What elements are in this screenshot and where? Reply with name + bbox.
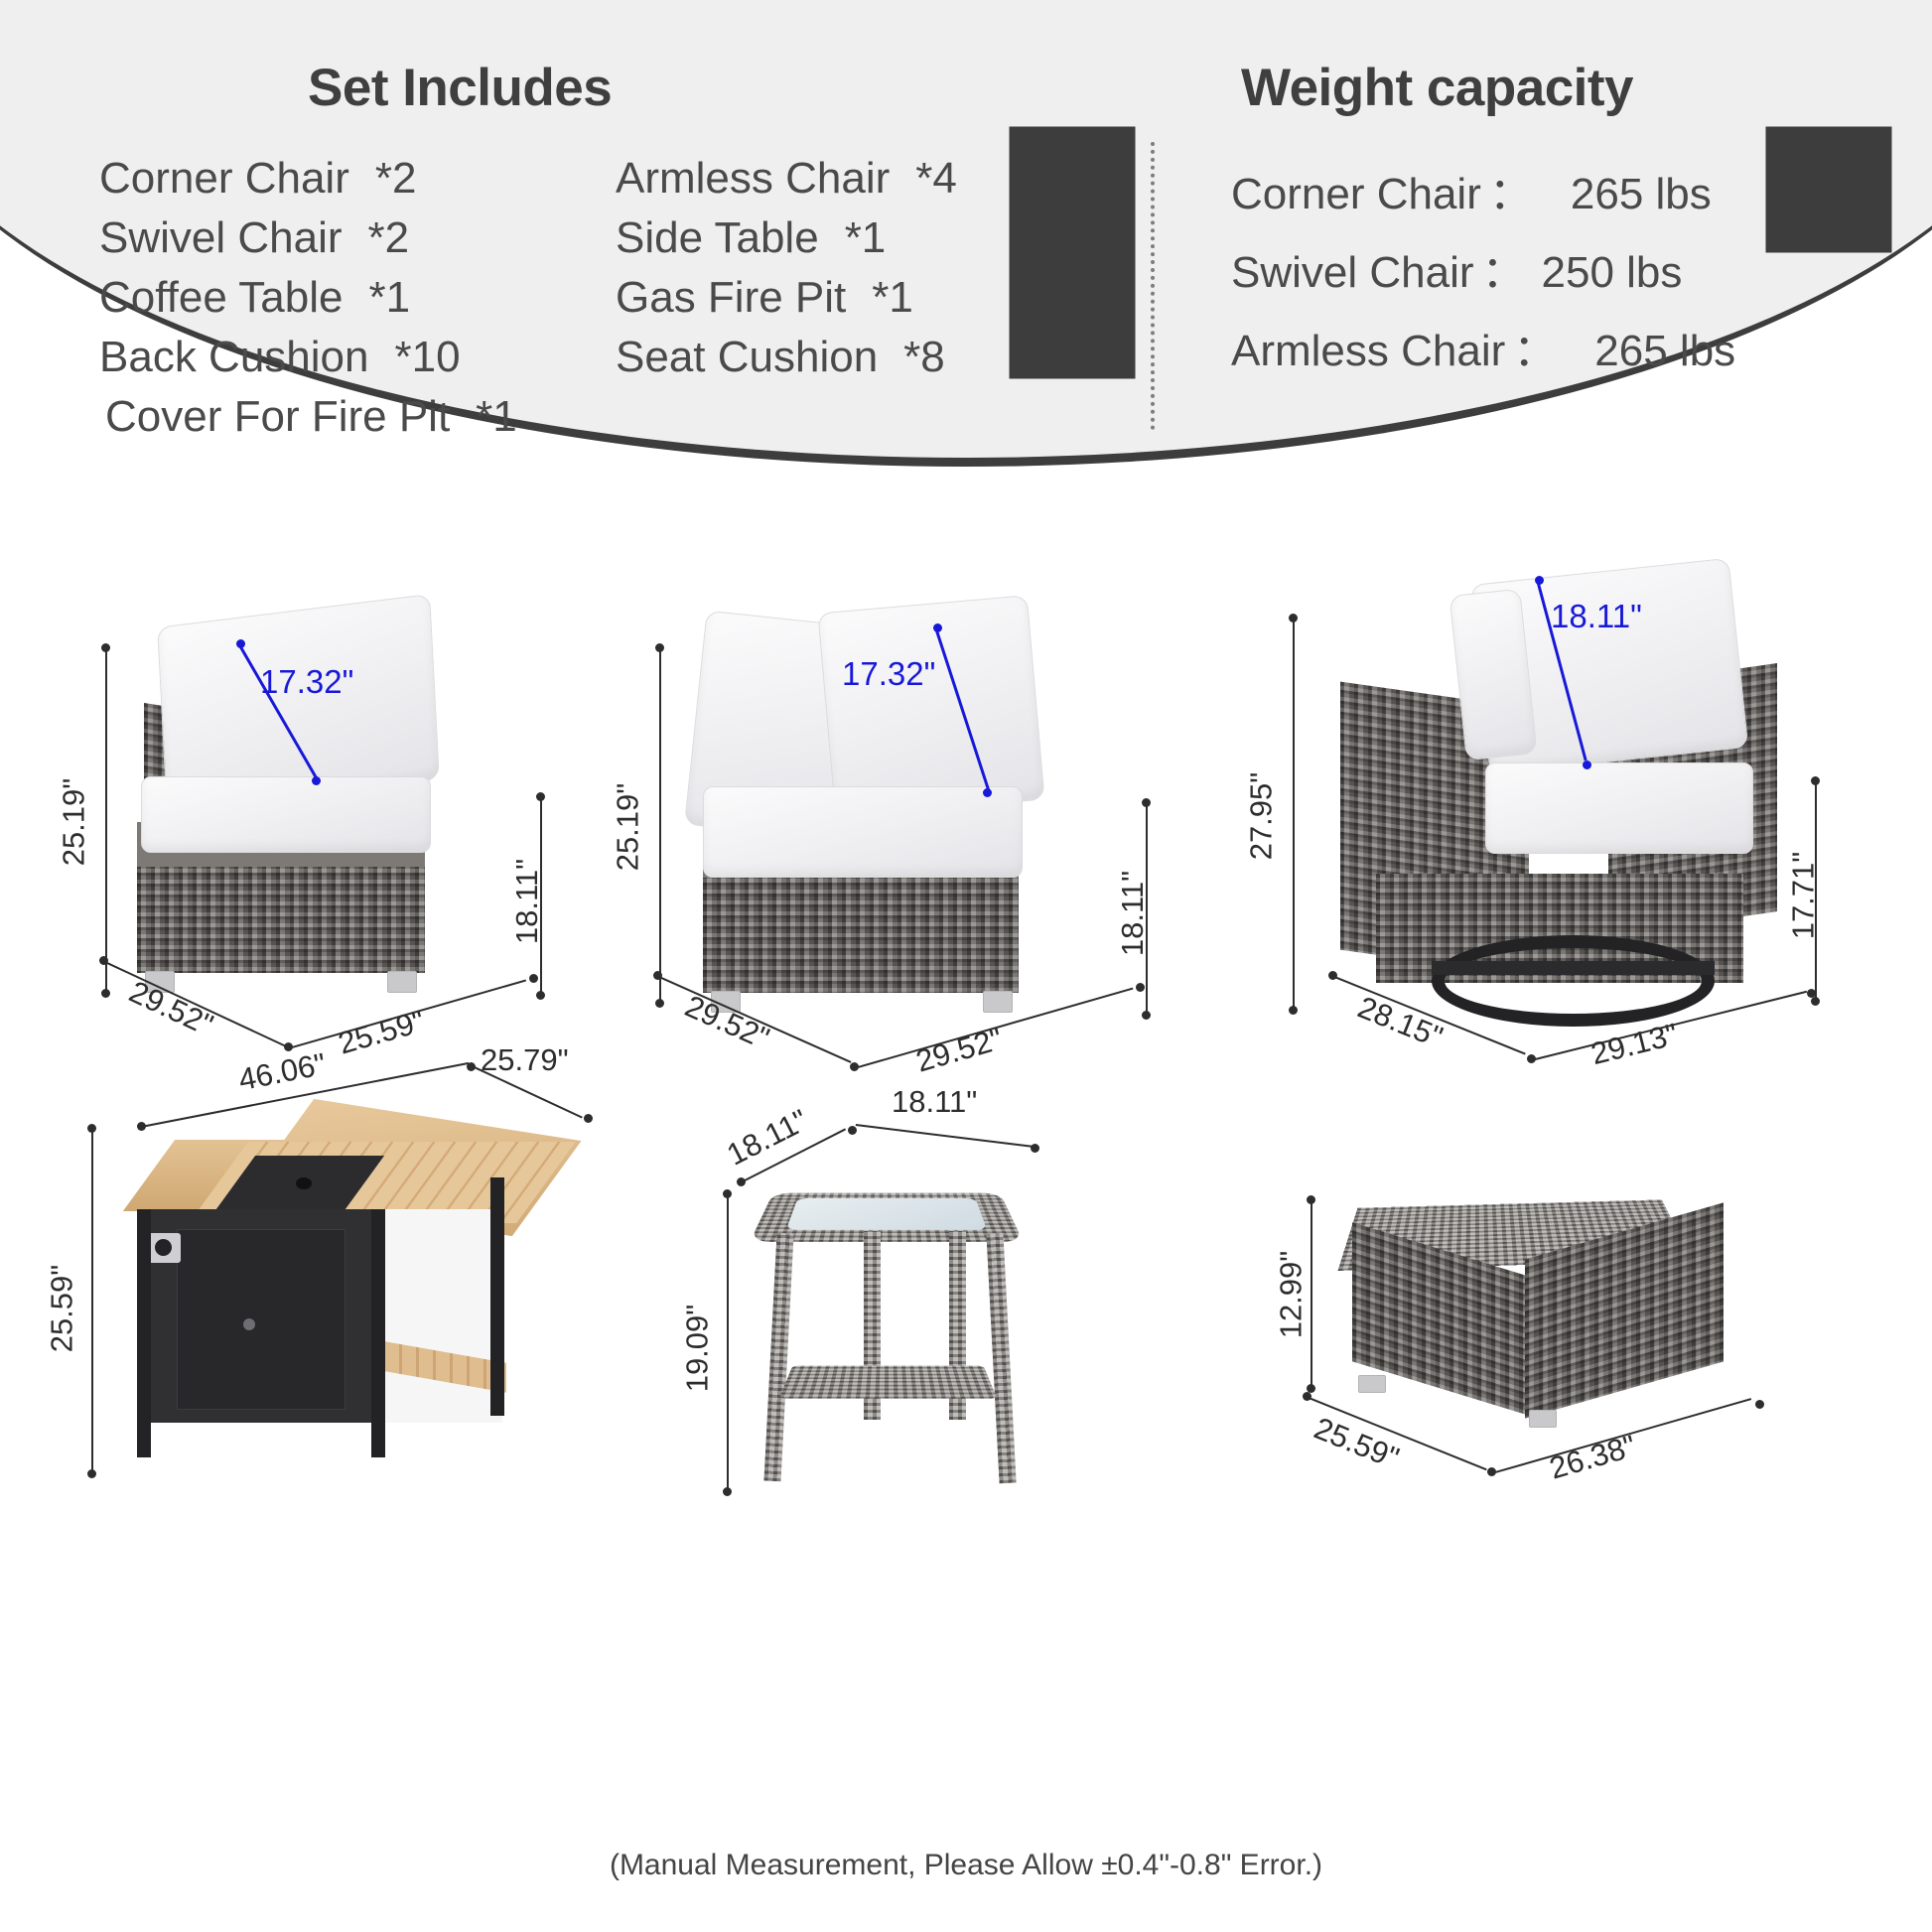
dim-line-height (659, 647, 661, 1003)
item-qty: *2 (368, 213, 410, 263)
dim-label-height: 27.95" (1243, 772, 1279, 861)
list-item: Side Table *1 (616, 213, 1132, 263)
weight-row: Swivel Chair ： 250 lbs (1231, 236, 1886, 300)
dim-endpoint (584, 1114, 593, 1123)
dim-label-height: 25.19" (610, 783, 645, 872)
weight-label: Corner Chair (1231, 170, 1481, 219)
dim-label-depth: 25.79" (481, 1042, 569, 1078)
weight-capacity-list: Corner Chair ： 265 lbs Swivel Chair ： 25… (1231, 158, 1886, 378)
side-table-leg (986, 1233, 1016, 1484)
dim-label-height: 25.59" (44, 1265, 79, 1353)
dim-label-width: 29.52" (912, 1021, 1007, 1079)
item-qty: *8 (903, 333, 945, 382)
item-qty: *1 (476, 392, 517, 442)
fire-pit-door-knob (243, 1318, 255, 1330)
dim-line-width (856, 1124, 1034, 1148)
dim-label-cushion: 17.32" (260, 663, 353, 701)
weight-value: 250 lbs (1542, 248, 1683, 298)
fire-pit-leg (137, 1209, 151, 1457)
item-qty: *1 (368, 273, 410, 323)
dim-line-height (1293, 618, 1295, 1010)
dim-endpoint (529, 974, 538, 983)
item-name: Seat Cushion (616, 333, 878, 382)
list-item: Coffee Table *1 (99, 273, 616, 323)
dim-endpoint (101, 989, 110, 998)
item-qty: *1 (872, 273, 913, 323)
weight-label: Swivel Chair (1231, 248, 1474, 298)
dim-endpoint (723, 1487, 732, 1496)
dim-endpoint (1136, 983, 1145, 992)
weight-value: 265 lbs (1571, 170, 1712, 219)
dim-endpoint (1807, 989, 1816, 998)
item-qty: *2 (375, 154, 417, 204)
fire-pit-control-knob (155, 1239, 172, 1256)
dim-endpoint (1755, 1400, 1764, 1409)
set-includes-list: Corner Chair *2 Armless Chair *4 Swivel … (99, 154, 1092, 382)
list-item: Back Cushion *10 (99, 333, 616, 382)
fire-pit-cabinet-door (177, 1229, 345, 1410)
item-name: Back Cushion (99, 333, 368, 382)
weight-value: 265 lbs (1594, 327, 1735, 376)
list-item: Corner Chair *2 (99, 154, 616, 204)
item-qty: *1 (845, 213, 887, 263)
fire-pit-leg (371, 1209, 385, 1457)
dim-endpoint (848, 1126, 857, 1135)
item-name: Swivel Chair (99, 213, 343, 263)
dim-line-height (105, 647, 107, 993)
dim-label-cushion: 18.11" (1551, 598, 1642, 635)
side-table-lower-shelf (779, 1366, 997, 1399)
side-table-leg (763, 1233, 793, 1482)
item-qty: *4 (915, 154, 957, 204)
list-item: Swivel Chair *2 (99, 213, 616, 263)
dim-line-height (91, 1128, 93, 1473)
item-name: Cover For Fire Pit (105, 392, 450, 442)
dim-endpoint (536, 991, 545, 1000)
item-qty: *10 (394, 333, 460, 382)
product-gas-fire-pit: 46.06" 25.79" 25.59" (69, 1082, 685, 1777)
dim-label-seat-height: 18.11" (1115, 871, 1151, 956)
item-name: Side Table (616, 213, 819, 263)
product-diagram-grid: 25.19" 18.11" 29.52" 25.59" 17.32" (0, 467, 1932, 1857)
dim-label-depth: 25.59" (1309, 1411, 1404, 1477)
corner-chair-seat-cushion (703, 786, 1023, 878)
measurement-disclaimer: (Manual Measurement, Please Allow ±0.4"-… (0, 1849, 1932, 1882)
product-armless-chair: 25.19" 18.11" 29.52" 25.59" 17.32" (89, 556, 645, 1112)
armless-chair-base-front (137, 854, 425, 973)
ottoman-foot (1529, 1410, 1557, 1428)
dim-line-height (1311, 1199, 1312, 1388)
weight-colon: ： (1489, 158, 1533, 221)
swivel-chair-seat-cushion (1485, 762, 1753, 854)
ottoman-foot (1358, 1375, 1386, 1393)
list-item: Seat Cushion *8 (616, 333, 1132, 382)
item-name: Gas Fire Pit (616, 273, 846, 323)
dim-label-depth: 28.15" (1352, 990, 1448, 1056)
list-item-cover-for-fire-pit: Cover For Fire Pit *1 (105, 392, 1092, 442)
spec-info-panel: Set Includes Corner Chair *2 Armless Cha… (0, 0, 1932, 467)
dim-label-depth: 18.11" (722, 1102, 814, 1173)
weight-capacity-title: Weight capacity (1241, 58, 1886, 118)
weight-row: Armless Chair ： 265 lbs (1231, 315, 1886, 378)
corner-chair-foot (983, 991, 1013, 1013)
dim-endpoint (655, 999, 664, 1008)
panel-divider (1151, 142, 1155, 430)
dim-endpoint-cushion (1583, 760, 1591, 769)
set-includes-title: Set Includes (308, 58, 1092, 118)
item-name: Coffee Table (99, 273, 343, 323)
dim-label-width: 25.59" (335, 1003, 429, 1061)
dim-label-width: 26.38" (1546, 1428, 1640, 1486)
weight-label: Armless Chair (1231, 327, 1505, 376)
dim-endpoint-cushion (312, 776, 321, 785)
product-swivel-chair: 27.95" 17.71" 28.15" 29.13" 18.11" (1281, 546, 1876, 1112)
dim-label-width: 18.11" (892, 1084, 977, 1120)
product-ottoman-coffee-table: 12.99" 25.59" 26.38" (1241, 1122, 1857, 1767)
fire-pit-leg (490, 1177, 504, 1416)
corner-chair-back-cushion-right (817, 595, 1044, 818)
list-item: Armless Chair *4 (616, 154, 1132, 204)
armless-chair-foot (387, 971, 417, 993)
weight-colon: ： (1482, 236, 1526, 300)
dim-endpoint (1811, 997, 1820, 1006)
dim-label-seat-height: 17.71" (1785, 852, 1821, 940)
dim-endpoint (87, 1469, 96, 1478)
corner-chair-base (703, 864, 1019, 993)
dim-endpoint (1031, 1144, 1039, 1153)
dim-label-seat-height: 18.11" (509, 859, 545, 944)
product-corner-chair: 25.19" 18.11" 29.52" 29.52" 17.32" (645, 556, 1261, 1112)
dim-label-cushion: 17.32" (842, 655, 935, 693)
dim-endpoint-cushion (983, 788, 992, 797)
dim-endpoint (1289, 1006, 1298, 1015)
weight-row: Corner Chair ： 265 lbs (1231, 158, 1886, 221)
dim-label-height: 12.99" (1273, 1251, 1309, 1339)
side-table-glass-top (786, 1198, 987, 1230)
swivel-base-bar (1432, 961, 1715, 975)
dim-line-height (727, 1193, 729, 1491)
item-name: Armless Chair (616, 154, 890, 204)
dim-endpoint (1142, 1011, 1151, 1020)
fire-pit-burner-hole (296, 1177, 312, 1189)
swivel-base-ring (1432, 935, 1715, 1027)
weight-colon: ： (1513, 315, 1557, 378)
dim-label-height: 25.19" (56, 778, 91, 867)
dim-label-height: 19.09" (679, 1305, 715, 1393)
list-item: Gas Fire Pit *1 (616, 273, 1132, 323)
product-side-table: 18.11" 18.11" 19.09" (715, 1082, 1191, 1777)
fire-pit-open-side (385, 1209, 502, 1423)
set-includes-panel: Set Includes Corner Chair *2 Armless Cha… (99, 0, 1092, 442)
weight-capacity-panel: Weight capacity Corner Chair ： 265 lbs S… (1231, 0, 1886, 393)
armless-chair-seat-cushion (141, 776, 431, 853)
item-name: Corner Chair (99, 154, 349, 204)
